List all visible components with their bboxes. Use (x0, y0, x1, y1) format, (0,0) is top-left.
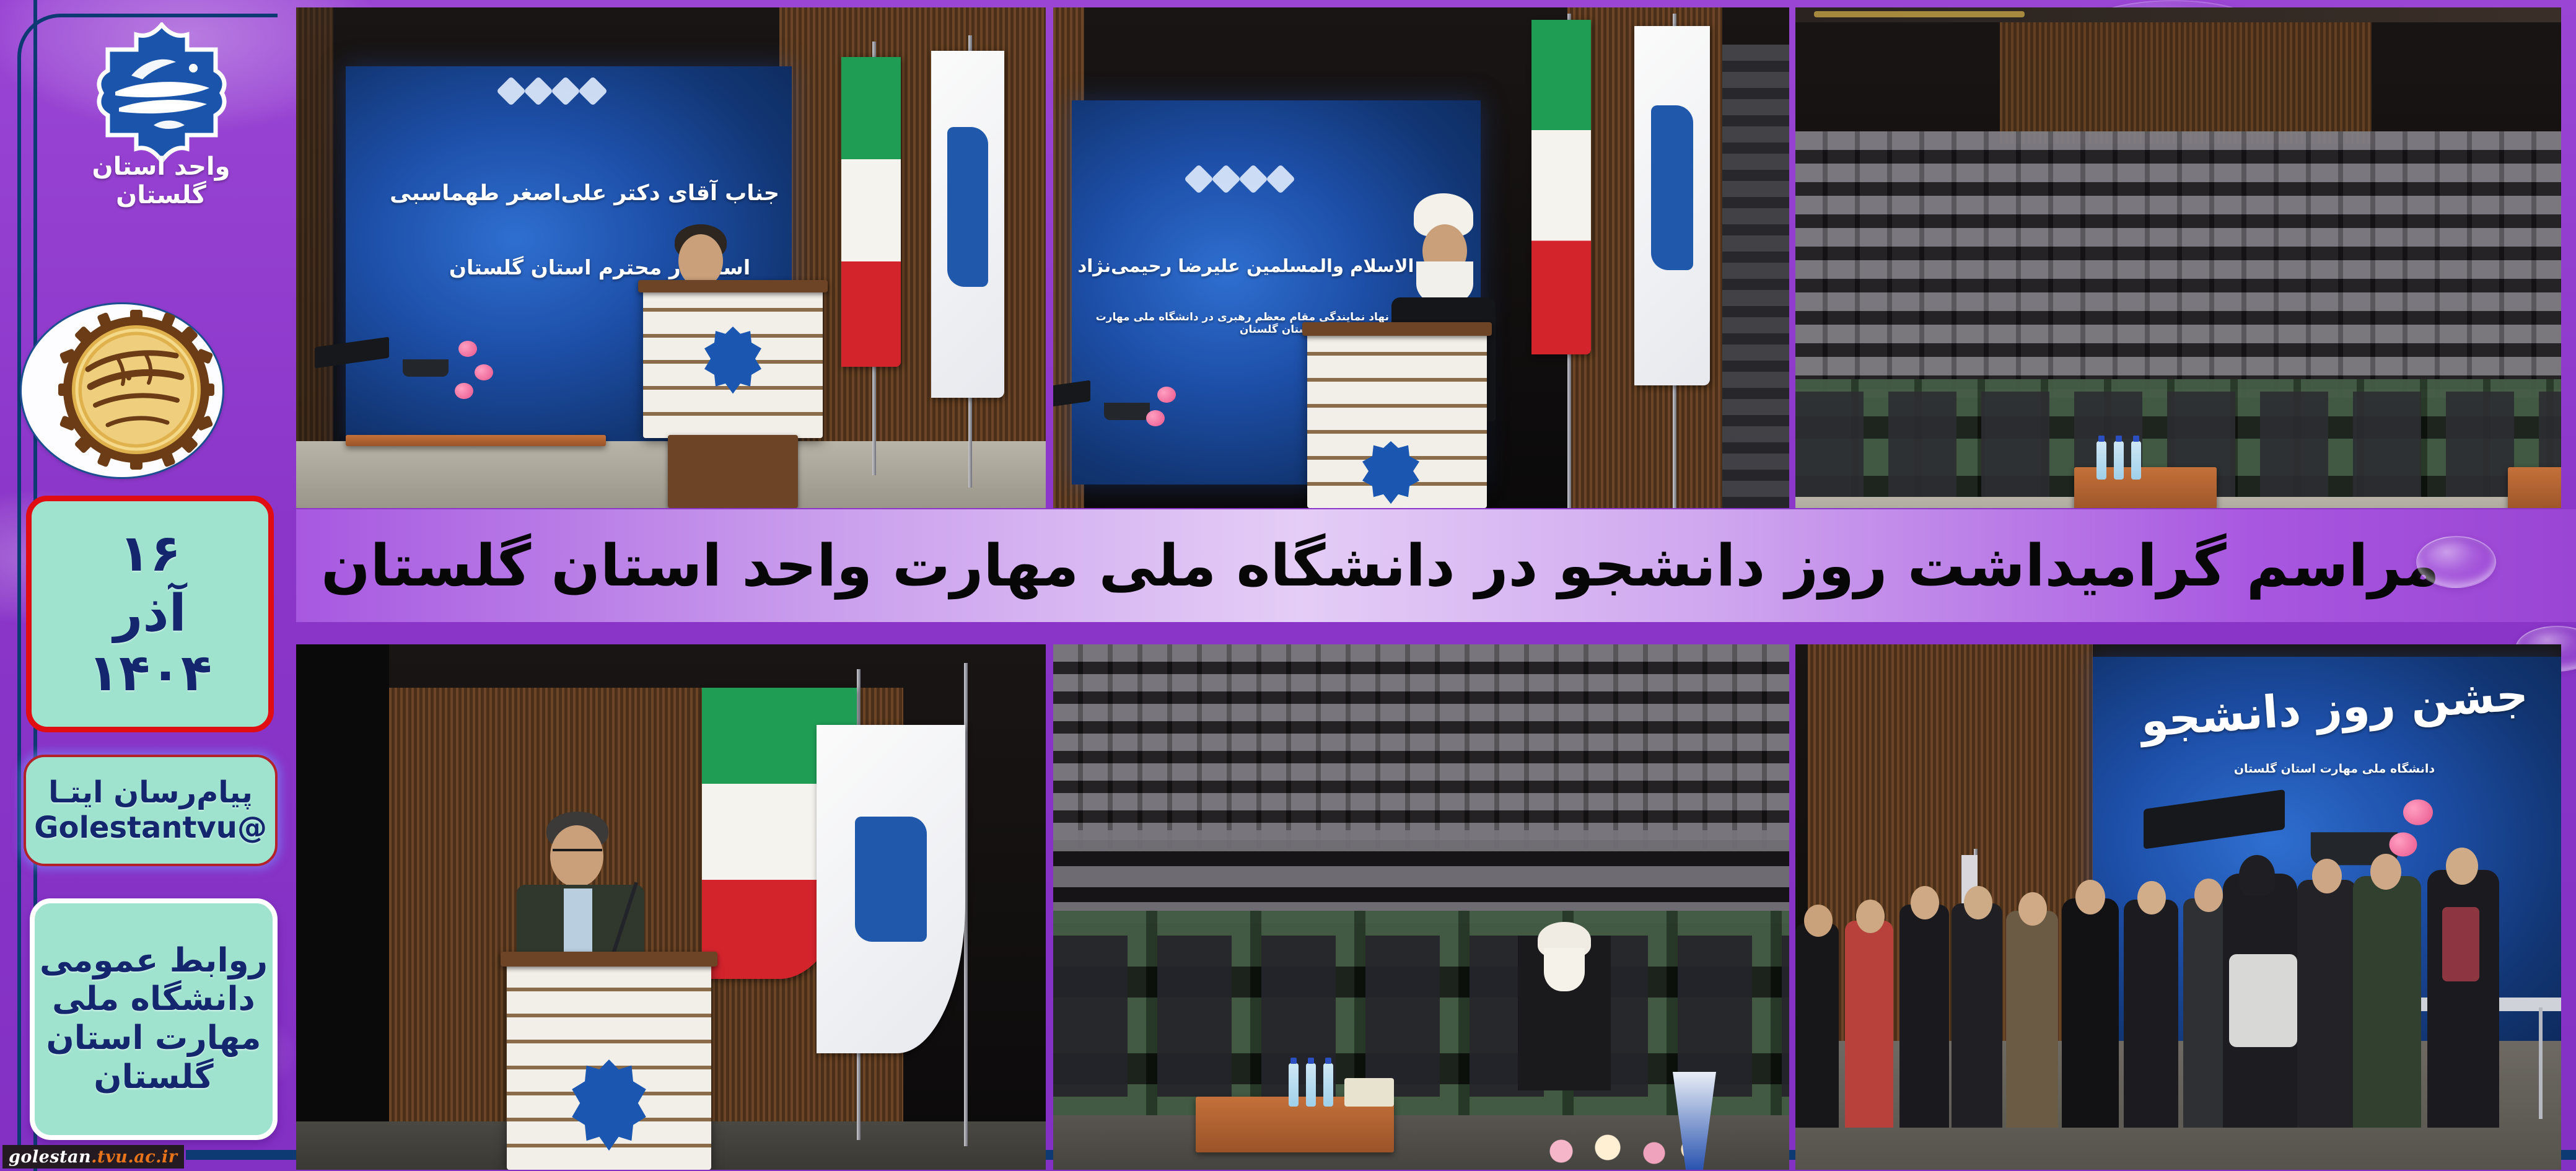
photo-top-left: جناب آقای دکتر علی‌اصغر طهماسبی استاندار… (296, 7, 1046, 508)
event-title-banner: مراسم گرامیداشت روز دانشجو در دانشگاه مل… (296, 509, 2576, 622)
url-part-domain: golestan (9, 1147, 91, 1167)
slide-title-line-1: جناب آقای دکتر علی‌اصغر طهماسبی (420, 181, 779, 206)
public-relations-card: روابط عمومی دانشگاه ملی مهارت استان گلست… (30, 898, 278, 1140)
photo-bottom-center (1053, 644, 1789, 1170)
poster-canvas: واحد استان گلستان (0, 0, 2576, 1171)
date-month: آذر (88, 584, 212, 644)
eitaa-label: پیام‌رسان ایتـا (34, 775, 267, 810)
pr-line-2: دانشگاه ملی (40, 980, 268, 1019)
event-date-card: ۱۶ آذر ۱۴۰۴ (26, 496, 274, 732)
date-day: ۱۶ (88, 524, 212, 584)
date-year: ۱۴۰۴ (88, 644, 212, 704)
investment-seal (20, 302, 224, 479)
pr-line-3: مهارت استان (40, 1019, 268, 1058)
sidebar: واحد استان گلستان (0, 0, 291, 1171)
website-url[interactable]: golestan.tvu.ac.ir (2, 1145, 184, 1169)
url-part-tld: .tvu.ac.ir (91, 1147, 177, 1167)
photo-top-right (1795, 7, 2561, 508)
audience-seating (1795, 7, 2561, 508)
pr-line-1: روابط عمومی (40, 942, 268, 981)
pr-line-4: گلستان (40, 1058, 268, 1097)
event-title-text: مراسم گرامیداشت روز دانشجو در دانشگاه مل… (321, 532, 2440, 599)
eitaa-handle: @Golestantvu (34, 810, 267, 846)
logo-subtitle: واحد استان گلستان (50, 152, 273, 209)
photo-bottom-right: جشن روز دانشجو دانشگاه ملی مهارت استان گ… (1795, 644, 2561, 1170)
stage-screen-subtitle: دانشگاه ملی مهارت استان گلستان (2142, 762, 2526, 776)
gear-seal-icon (58, 310, 214, 470)
photo-top-center: حجت الاسلام والمسلمین علیرضا رحیمی‌نژاد … (1053, 7, 1789, 508)
university-shield-icon (94, 22, 229, 164)
eitaa-messenger-card[interactable]: پیام‌رسان ایتـا @Golestantvu (24, 755, 278, 866)
university-logo: واحد استان گلستان (50, 5, 273, 209)
photo-bottom-left (296, 644, 1046, 1170)
